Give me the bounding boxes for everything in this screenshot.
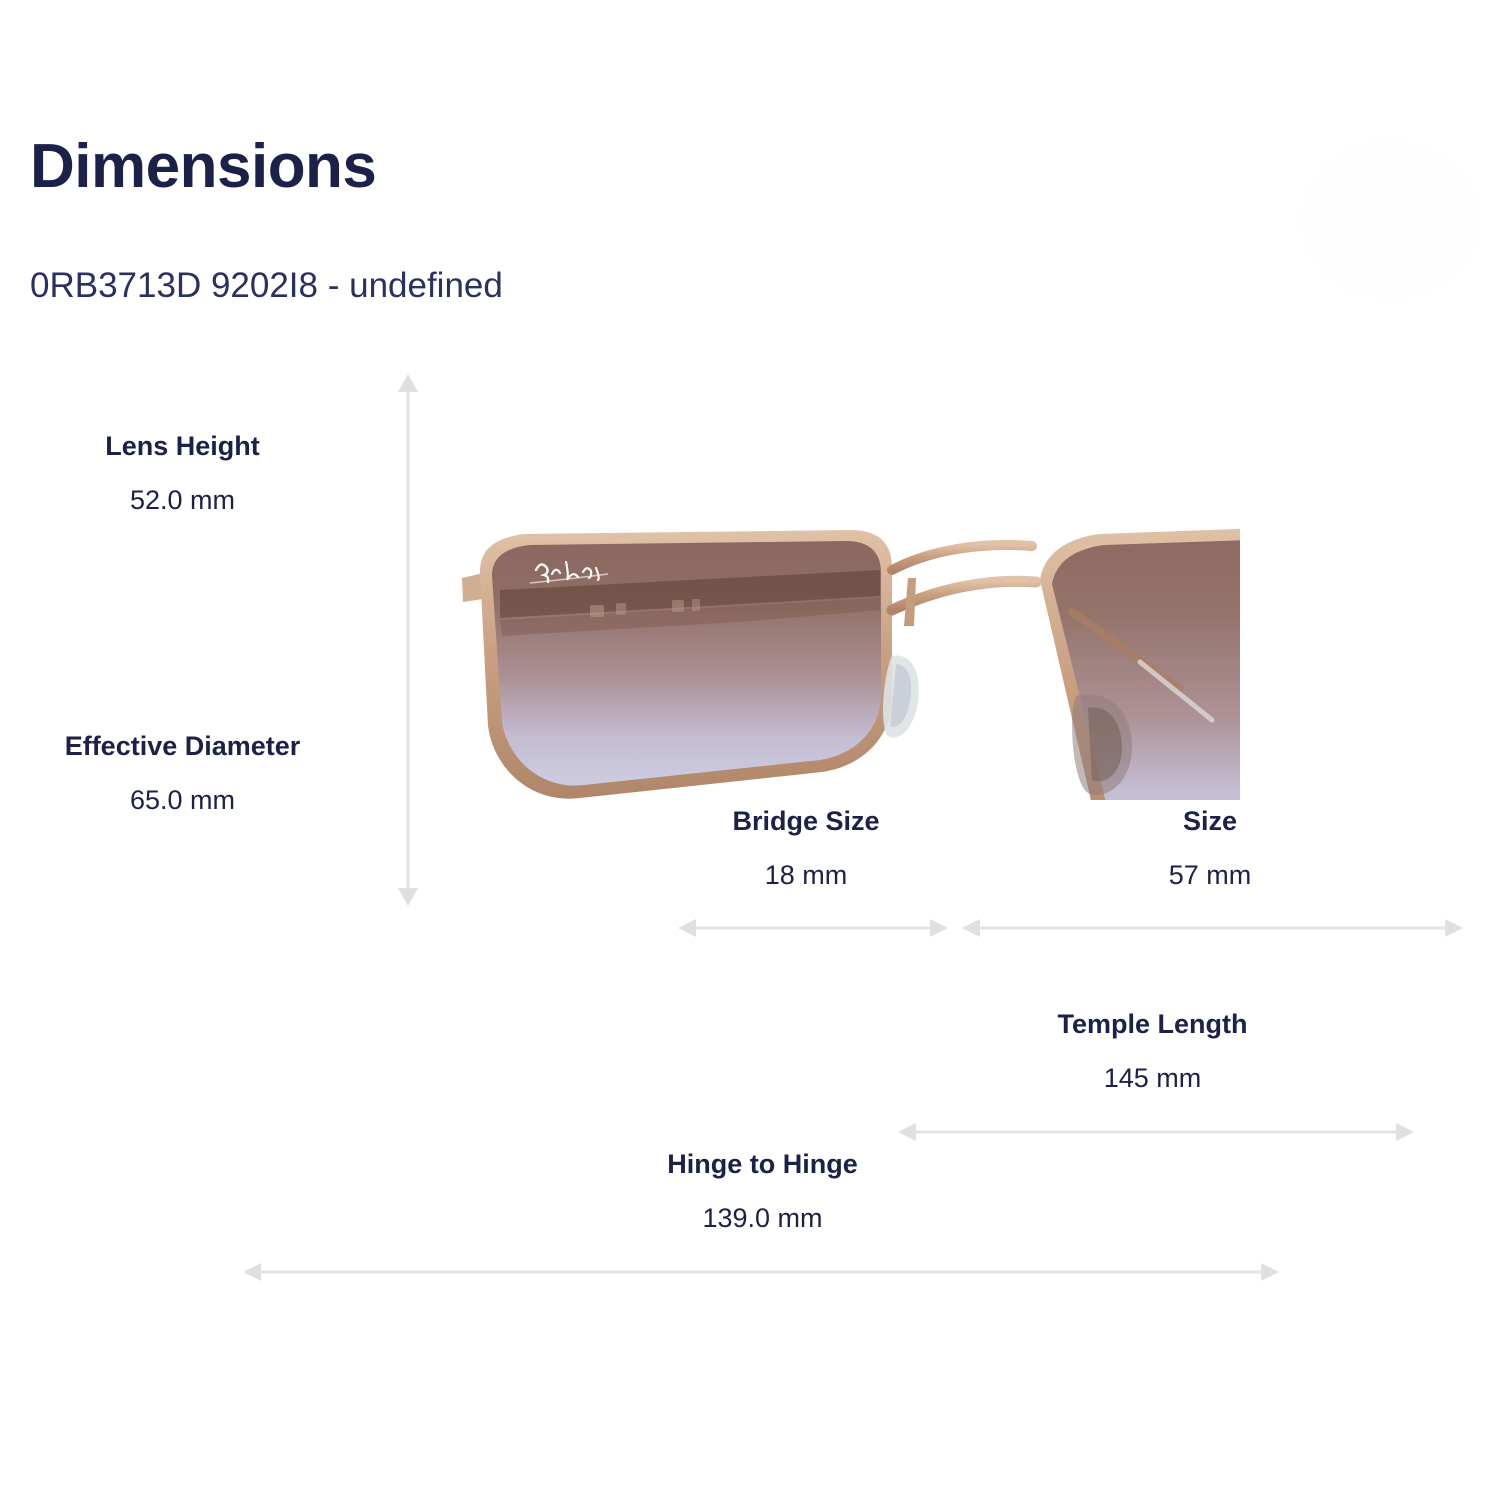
page-title: Dimensions <box>30 134 376 199</box>
measurement-label: Bridge Size <box>680 805 932 839</box>
measurement-value: 65.0 mm <box>0 784 365 818</box>
measurement-value: 18 mm <box>680 859 932 893</box>
dimensions-page: Dimensions 0RB3713D 9202I8 - undefined L… <box>0 0 1500 1500</box>
measurement-temple-length: Temple Length 145 mm <box>900 1008 1405 1096</box>
measurement-value: 57 mm <box>965 859 1455 893</box>
size-dimension-arrow <box>960 914 1465 942</box>
measurement-value: 52.0 mm <box>0 484 365 518</box>
measurement-value: 145 mm <box>900 1062 1405 1096</box>
measurement-hinge-to-hinge: Hinge to Hinge 139.0 mm <box>245 1148 1280 1236</box>
measurement-label: Lens Height <box>0 430 365 464</box>
measurement-label: Effective Diameter <box>0 730 365 764</box>
vertical-dimension-arrow <box>392 372 424 908</box>
measurement-lens-height: Lens Height 52.0 mm <box>0 430 365 518</box>
measurement-label: Temple Length <box>900 1008 1405 1042</box>
bridge-size-dimension-arrow <box>676 914 950 942</box>
measurement-label: Hinge to Hinge <box>245 1148 1280 1182</box>
measurement-bridge-size: Bridge Size 18 mm <box>680 805 932 893</box>
temple-length-dimension-arrow <box>896 1118 1416 1146</box>
measurement-label: Size <box>965 805 1455 839</box>
product-model-subtitle: 0RB3713D 9202I8 - undefined <box>30 265 503 307</box>
product-image-sunglasses <box>440 450 1240 800</box>
measurement-effective-diameter: Effective Diameter 65.0 mm <box>0 730 365 818</box>
hinge-to-hinge-dimension-arrow <box>241 1258 1281 1286</box>
measurement-value: 139.0 mm <box>245 1202 1280 1236</box>
measurement-size: Size 57 mm <box>965 805 1455 893</box>
background-watermark <box>1300 140 1480 300</box>
